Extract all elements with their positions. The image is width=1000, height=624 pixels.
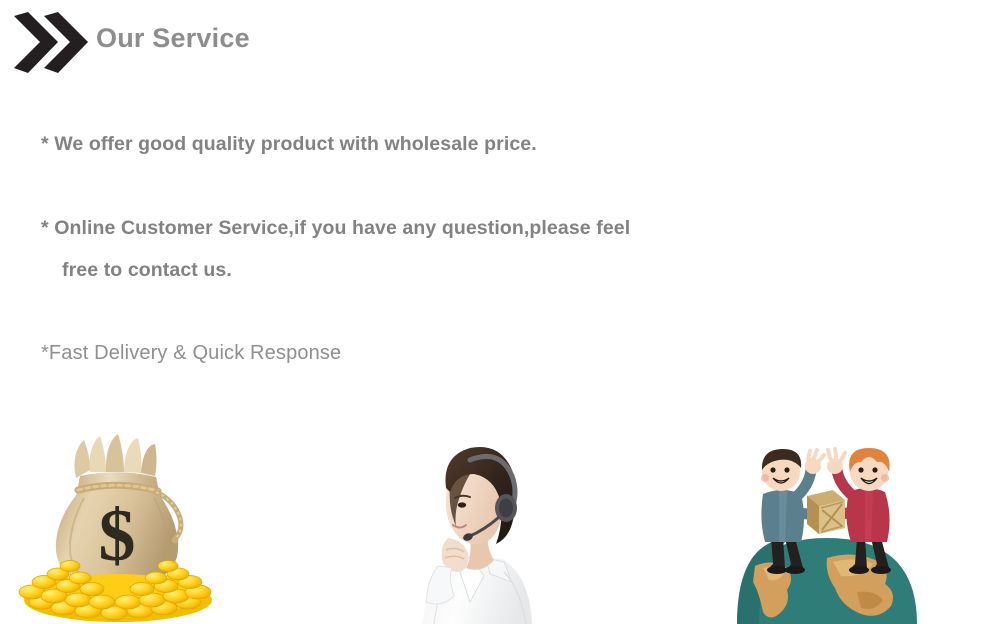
dollar-sign-symbol: $ xyxy=(99,495,136,577)
service-illustration-row: $ xyxy=(0,396,1000,624)
service-point-support: * Online Customer Service,if you have an… xyxy=(41,217,630,240)
globe-icon xyxy=(737,538,917,624)
customer-service-agent-photo xyxy=(408,426,540,624)
bag-top-ruffles xyxy=(74,434,156,478)
global-delivery-illustration xyxy=(729,446,925,624)
agent-eye xyxy=(458,502,466,507)
section-header: Our Service xyxy=(0,0,1000,96)
service-point-support-continued: free to contact us. xyxy=(62,259,232,282)
money-bag-with-gold-coins-image: $ xyxy=(14,414,226,624)
double-chevron-right-icon xyxy=(12,10,90,78)
our-service-banner: Our Service * We offer good quality prod… xyxy=(0,0,1000,624)
service-point-delivery: *Fast Delivery & Quick Response xyxy=(41,342,341,365)
service-point-quality: * We offer good quality product with who… xyxy=(41,133,537,156)
parcel-box-icon xyxy=(807,490,845,534)
page-title: Our Service xyxy=(96,23,250,54)
